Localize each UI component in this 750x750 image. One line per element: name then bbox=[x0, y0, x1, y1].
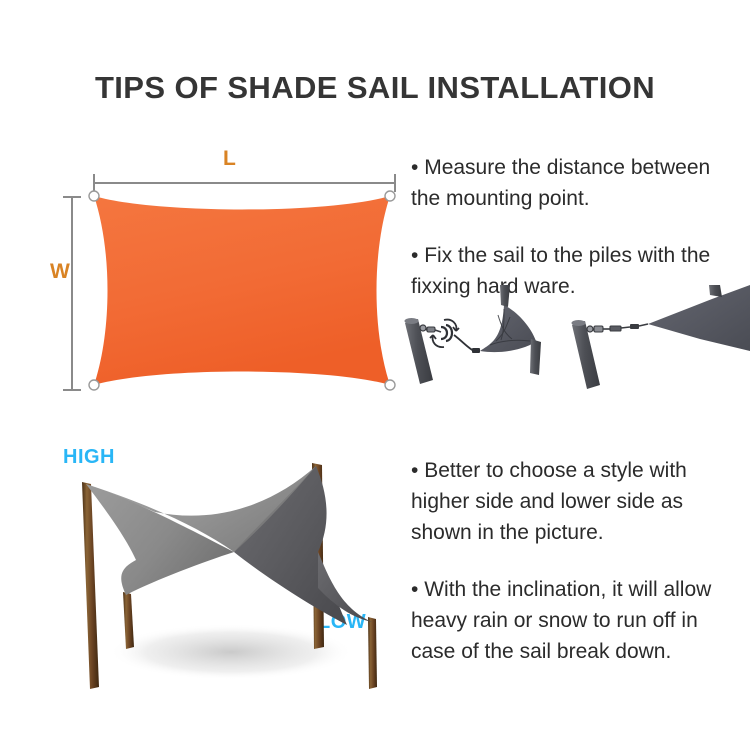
tips-list-installation: • Measure the distance between the mount… bbox=[411, 152, 750, 302]
hardware-right-group bbox=[572, 285, 750, 389]
mount-post-left-top bbox=[500, 285, 510, 307]
orange-shade-sail-illustration bbox=[86, 188, 398, 393]
mount-post-left-right bbox=[530, 339, 541, 375]
tip-line: • Measure the distance between bbox=[411, 152, 750, 183]
hardware-left-group bbox=[405, 285, 542, 384]
post-low-right bbox=[368, 617, 377, 689]
page-title: TIPS OF SHADE SAIL INSTALLATION bbox=[0, 70, 750, 106]
length-dimension-line bbox=[93, 182, 396, 184]
length-dimension-label: L bbox=[223, 148, 236, 169]
mount-post-right-top bbox=[709, 285, 722, 297]
hardware-fixing-illustrations bbox=[400, 285, 750, 395]
perspective-scene-svg bbox=[35, 440, 415, 705]
grommet-top-left bbox=[89, 191, 99, 201]
infographic-page: TIPS OF SHADE SAIL INSTALLATION L W bbox=[0, 0, 750, 750]
turnbuckle-assembly-left bbox=[420, 320, 480, 353]
bullet-icon: • bbox=[411, 156, 418, 179]
bullet-icon: • bbox=[411, 459, 418, 482]
tip-line: • Fix the sail to the piles with the bbox=[411, 240, 750, 271]
bullet-icon: • bbox=[411, 578, 418, 601]
tip-choose-style: • Better to choose a style with higher s… bbox=[411, 455, 750, 548]
grommet-bottom-right bbox=[385, 380, 395, 390]
width-dimension-cap-top bbox=[63, 196, 81, 198]
tip-line: shown in the picture. bbox=[411, 517, 750, 548]
tip-line: the mounting point. bbox=[411, 183, 750, 214]
post-high-left bbox=[82, 482, 99, 689]
grommet-bottom-left bbox=[89, 380, 99, 390]
width-dimension-label: W bbox=[50, 261, 70, 282]
tip-text: Better to choose a style with bbox=[424, 459, 687, 482]
shade-sail-light bbox=[86, 484, 234, 595]
tip-line: • With the inclination, it will allow bbox=[411, 574, 750, 605]
tip-text: With the inclination, it will allow bbox=[424, 578, 711, 601]
hardware-illustration-svg bbox=[400, 285, 750, 395]
tip-line: • Better to choose a style with bbox=[411, 455, 750, 486]
tips-list-style: • Better to choose a style with higher s… bbox=[411, 455, 750, 667]
bullet-icon: • bbox=[411, 244, 418, 267]
tip-line: heavy rain or snow to run off in bbox=[411, 605, 750, 636]
high-low-sail-diagram: HIGH LOW bbox=[35, 440, 415, 705]
grommet-top-right bbox=[385, 191, 395, 201]
tip-measure-distance: • Measure the distance between the mount… bbox=[411, 152, 750, 214]
tip-inclination-runoff: • With the inclination, it will allow he… bbox=[411, 574, 750, 667]
turnbuckle-assembly-right bbox=[587, 324, 648, 332]
sail-body bbox=[94, 196, 390, 385]
shade-sail-left bbox=[480, 305, 536, 352]
sail-dimension-diagram: L W bbox=[40, 140, 400, 405]
tip-text: Fix the sail to the piles with the bbox=[424, 244, 710, 267]
tip-text: Measure the distance between bbox=[424, 156, 710, 179]
tip-line: higher side and lower side as bbox=[411, 486, 750, 517]
width-dimension-cap-bottom bbox=[63, 389, 81, 391]
tip-line: case of the sail break down. bbox=[411, 636, 750, 667]
width-dimension-line bbox=[71, 196, 73, 391]
shade-sail-right bbox=[648, 285, 750, 351]
